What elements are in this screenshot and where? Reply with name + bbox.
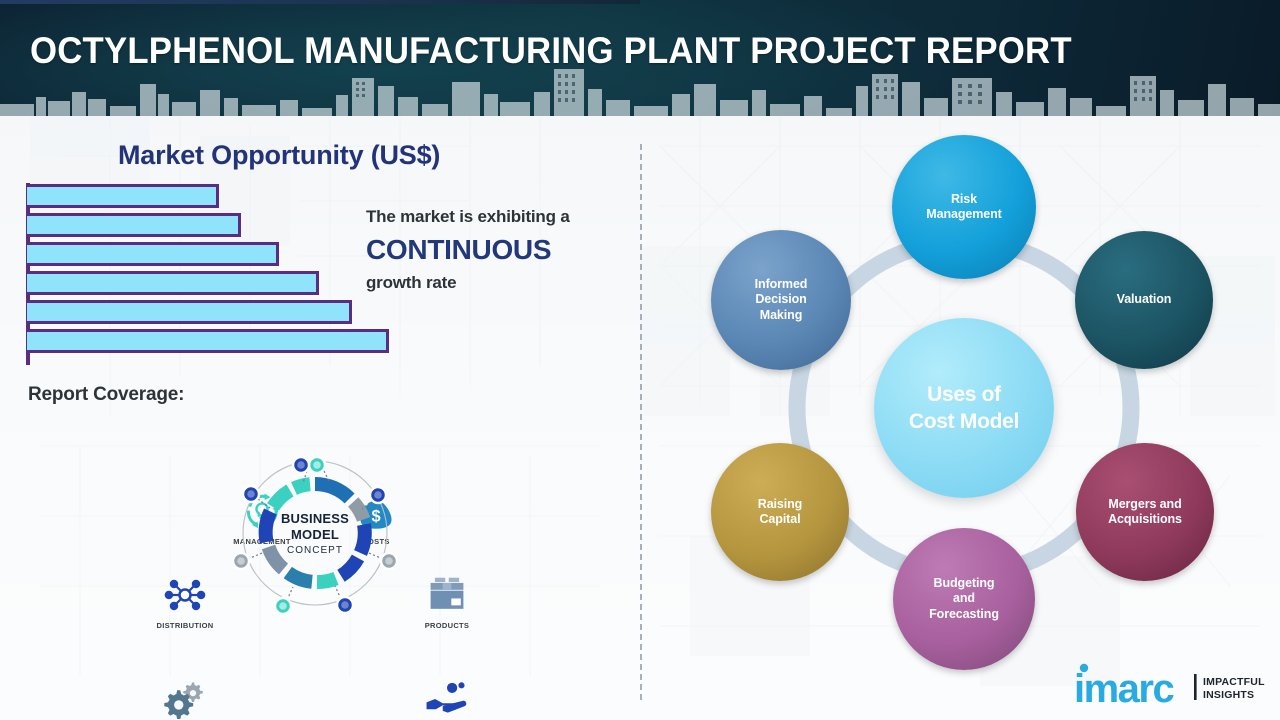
node-risk-management[interactable]: Risk Management bbox=[892, 135, 1036, 279]
right-panel: Uses of Cost Model Risk Management Valua… bbox=[640, 116, 1280, 720]
imarc-logo: imarc IMPACTFUL INSIGHTS bbox=[1070, 660, 1270, 708]
coverage-label-products: PRODUCTS bbox=[395, 621, 499, 630]
node-line-3: Forecasting bbox=[929, 607, 999, 623]
center-node-line-1: Uses of bbox=[909, 381, 1019, 408]
bar-item-3 bbox=[27, 242, 279, 266]
node-valuation[interactable]: Valuation bbox=[1075, 231, 1213, 369]
slide-body: Market Opportunity (US$) The market is e… bbox=[0, 116, 1280, 720]
node-line-2: Capital bbox=[758, 512, 802, 528]
market-opportunity-title: Market Opportunity (US$) bbox=[118, 140, 440, 171]
node-text-budgeting-forecasting: Budgeting and Forecasting bbox=[929, 576, 999, 623]
header-accent-strip bbox=[0, 0, 640, 4]
callout-line-1: The market is exhibiting a bbox=[366, 206, 636, 228]
growth-callout: The market is exhibiting a CONTINUOUS gr… bbox=[366, 206, 636, 294]
hand-coins-icon bbox=[395, 676, 499, 720]
coverage-item-products: PRODUCTS bbox=[395, 572, 499, 630]
node-mergers-acquisitions[interactable]: Mergers and Acquisitions bbox=[1076, 443, 1214, 581]
node-text-valuation: Valuation bbox=[1117, 292, 1172, 308]
node-line-2: Acquisitions bbox=[1108, 512, 1182, 528]
box-package-icon bbox=[395, 572, 499, 618]
coverage-item-revenue: REVENUE bbox=[395, 676, 499, 720]
center-node-text: Uses of Cost Model bbox=[909, 381, 1019, 435]
coverage-item-distribution: DISTRIBUTION bbox=[133, 572, 237, 630]
report-coverage-label: Report Coverage: bbox=[28, 384, 184, 406]
node-line-1: Risk bbox=[926, 192, 1001, 208]
bar-item-2 bbox=[27, 213, 241, 237]
node-line-1: Mergers and bbox=[1108, 497, 1182, 513]
node-line-2: Decision bbox=[755, 292, 808, 308]
logo-divider-bar bbox=[1194, 674, 1197, 700]
node-line-1: Budgeting bbox=[929, 576, 999, 592]
page-header: OCTYLPHENOL MANUFACTURING PLANT PROJECT … bbox=[0, 0, 1280, 116]
logo-tagline-line-2: INSIGHTS bbox=[1203, 689, 1254, 701]
node-line-2: Management bbox=[926, 207, 1001, 223]
node-line-1: Raising bbox=[758, 497, 802, 513]
gears-icon bbox=[133, 676, 237, 720]
node-line-1: Informed bbox=[755, 277, 808, 293]
callout-line-3: growth rate bbox=[366, 272, 636, 294]
node-informed-decision-making[interactable]: Informed Decision Making bbox=[711, 230, 851, 370]
node-text-informed-decision-making: Informed Decision Making bbox=[755, 277, 808, 324]
node-uses-of-cost-model[interactable]: Uses of Cost Model bbox=[874, 318, 1054, 498]
network-nodes-icon bbox=[133, 572, 237, 618]
node-raising-capital[interactable]: Raising Capital bbox=[711, 443, 849, 581]
node-text-risk-management: Risk Management bbox=[926, 192, 1001, 223]
node-line-2: and bbox=[929, 591, 999, 607]
node-budgeting-forecasting[interactable]: Budgeting and Forecasting bbox=[893, 528, 1035, 670]
node-text-raising-capital: Raising Capital bbox=[758, 497, 802, 528]
node-line-1: Valuation bbox=[1117, 292, 1172, 308]
bar-item-4 bbox=[27, 271, 319, 295]
logo-tagline-line-1: IMPACTFUL bbox=[1203, 676, 1265, 688]
coverage-label-distribution: DISTRIBUTION bbox=[133, 621, 237, 630]
node-line-3: Making bbox=[755, 308, 808, 324]
bar-item-6 bbox=[27, 329, 389, 353]
coverage-item-services: SERVICES bbox=[133, 676, 237, 720]
logo-wordmark: imarc bbox=[1074, 667, 1174, 708]
bar-item-5 bbox=[27, 300, 352, 324]
page-title: OCTYLPHENOL MANUFACTURING PLANT PROJECT … bbox=[30, 29, 1072, 73]
market-opportunity-bar-chart bbox=[0, 183, 420, 368]
business-model-wheel-graphic bbox=[231, 449, 399, 617]
center-node-line-2: Cost Model bbox=[909, 408, 1019, 435]
callout-emphasis: CONTINUOUS bbox=[366, 228, 636, 272]
left-panel: Market Opportunity (US$) The market is e… bbox=[0, 116, 640, 720]
node-text-mergers-acquisitions: Mergers and Acquisitions bbox=[1108, 497, 1182, 528]
bar-item-1 bbox=[27, 184, 219, 208]
